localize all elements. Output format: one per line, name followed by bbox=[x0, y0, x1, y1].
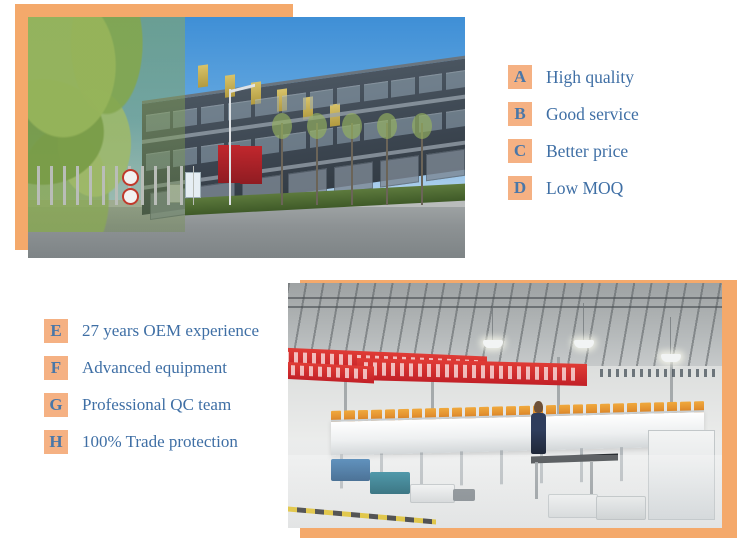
roof-purlin-2 bbox=[288, 306, 722, 308]
badge-letter-e: E bbox=[44, 319, 68, 343]
feature-item-e[interactable]: E 27 years OEM experience bbox=[44, 318, 259, 344]
traffic-sign-speed-limit bbox=[122, 188, 139, 205]
badge-letter-a: A bbox=[508, 65, 532, 89]
factory-interior-photo-content bbox=[288, 283, 722, 528]
feature-label-e: 27 years OEM experience bbox=[82, 321, 259, 341]
street-lamp bbox=[229, 89, 231, 205]
factory-exterior-photo bbox=[28, 17, 465, 258]
hanging-lamp-2 bbox=[583, 303, 584, 342]
hanging-lamp-1 bbox=[492, 303, 493, 342]
feature-item-f[interactable]: F Advanced equipment bbox=[44, 355, 259, 381]
badge-letter-f: F bbox=[44, 356, 68, 380]
feature-label-g: Professional QC team bbox=[82, 395, 231, 415]
badge-letter-h: H bbox=[44, 430, 68, 454]
street-tree-5 bbox=[421, 123, 423, 205]
feature-label-c: Better price bbox=[546, 141, 628, 162]
rooftop-sign-char-1 bbox=[198, 64, 208, 87]
factory-interior-photo bbox=[288, 283, 722, 528]
feature-label-b: Good service bbox=[546, 104, 639, 125]
feature-label-d: Low MOQ bbox=[546, 178, 623, 199]
roof-purlin-1 bbox=[288, 297, 722, 299]
feature-item-h[interactable]: H 100% Trade protection bbox=[44, 429, 259, 455]
feature-label-h: 100% Trade protection bbox=[82, 432, 238, 452]
factory-exterior-photo-content bbox=[28, 17, 465, 258]
feature-label-f: Advanced equipment bbox=[82, 358, 227, 378]
badge-letter-g: G bbox=[44, 393, 68, 417]
red-vertical-banner-2 bbox=[240, 146, 262, 185]
red-banner-left-text bbox=[288, 365, 372, 380]
feature-label-a: High quality bbox=[546, 67, 634, 88]
street-tree-3 bbox=[351, 123, 353, 205]
factory-worker bbox=[531, 413, 546, 455]
badge-letter-d: D bbox=[508, 176, 532, 200]
feature-item-c[interactable]: C Better price bbox=[508, 138, 639, 164]
hanging-lamp-3 bbox=[670, 317, 671, 356]
feature-list-top: A High quality B Good service C Better p… bbox=[508, 64, 639, 212]
feature-item-d[interactable]: D Low MOQ bbox=[508, 175, 639, 201]
feature-item-b[interactable]: B Good service bbox=[508, 101, 639, 127]
feature-item-g[interactable]: G Professional QC team bbox=[44, 392, 259, 418]
floor-reflection bbox=[288, 455, 722, 529]
wall-slogan-sign bbox=[600, 369, 717, 378]
feature-item-a[interactable]: A High quality bbox=[508, 64, 639, 90]
traffic-sign-no-entry bbox=[122, 169, 139, 186]
page-root: A High quality B Good service C Better p… bbox=[0, 0, 750, 550]
badge-letter-c: C bbox=[508, 139, 532, 163]
street-tree-1 bbox=[281, 123, 283, 205]
boundary-wall-pillars bbox=[37, 166, 194, 205]
street-tree-2 bbox=[316, 123, 318, 205]
street-tree-4 bbox=[386, 123, 388, 205]
feature-list-bottom: E 27 years OEM experience F Advanced equ… bbox=[44, 318, 259, 466]
badge-letter-b: B bbox=[508, 102, 532, 126]
red-banner-lower-text bbox=[364, 363, 580, 381]
